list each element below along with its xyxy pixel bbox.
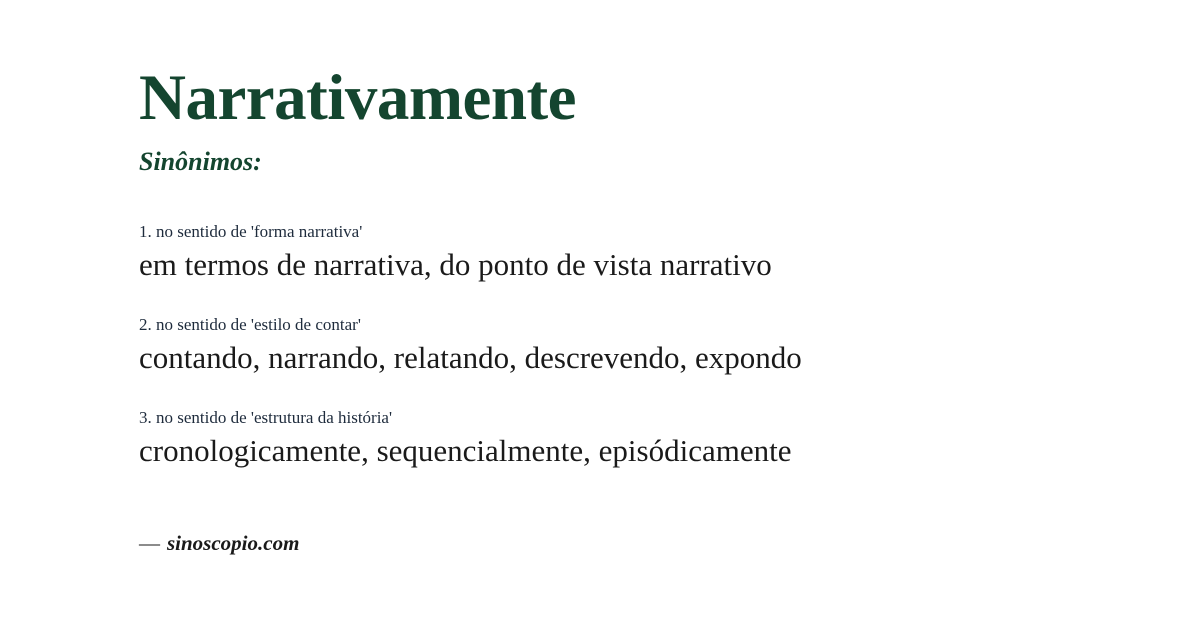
- sense-synonyms: em termos de narrativa, do ponto de vist…: [139, 244, 1140, 285]
- em-dash-icon: —: [139, 531, 167, 555]
- sense-label: 1. no sentido de 'forma narrativa': [139, 221, 1140, 244]
- sense-label: 2. no sentido de 'estilo de contar': [139, 314, 1140, 337]
- list-item: 1. no sentido de 'forma narrativa' em te…: [139, 221, 1140, 285]
- sense-synonyms: contando, narrando, relatando, descreven…: [139, 337, 1140, 378]
- synonym-card: Narrativamente Sinônimos: 1. no sentido …: [0, 0, 1200, 628]
- list-item: 2. no sentido de 'estilo de contar' cont…: [139, 314, 1140, 378]
- sense-list: 1. no sentido de 'forma narrativa' em te…: [139, 175, 1140, 472]
- source-attribution: —sinoscopio.com: [139, 533, 299, 554]
- page-title: Narrativamente: [139, 0, 1140, 131]
- sense-label: 3. no sentido de 'estrutura da história': [139, 407, 1140, 430]
- list-item: 3. no sentido de 'estrutura da história'…: [139, 407, 1140, 471]
- source-name: sinoscopio.com: [167, 531, 299, 555]
- subtitle: Sinônimos:: [139, 131, 1140, 175]
- sense-synonyms: cronologicamente, sequencialmente, episó…: [139, 430, 1140, 471]
